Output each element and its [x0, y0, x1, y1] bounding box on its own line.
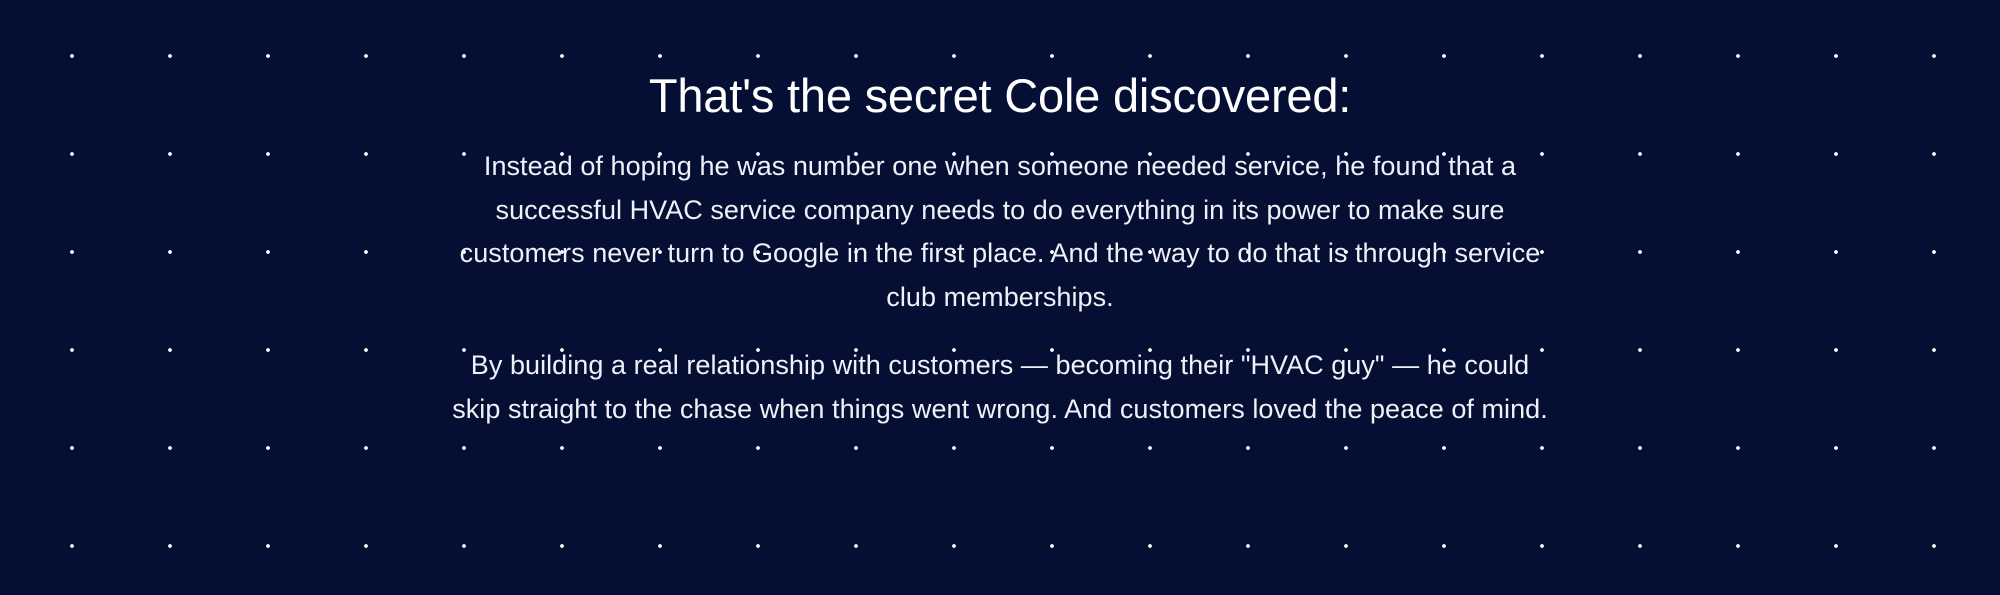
content-container: That's the secret Cole discovered: Inste… — [440, 0, 1560, 595]
promo-section: That's the secret Cole discovered: Inste… — [0, 0, 2000, 595]
body-paragraph-1: Instead of hoping he was number one when… — [444, 145, 1556, 319]
body-paragraph-2: By building a real relationship with cus… — [444, 344, 1556, 431]
section-heading: That's the secret Cole discovered: — [649, 68, 1351, 124]
